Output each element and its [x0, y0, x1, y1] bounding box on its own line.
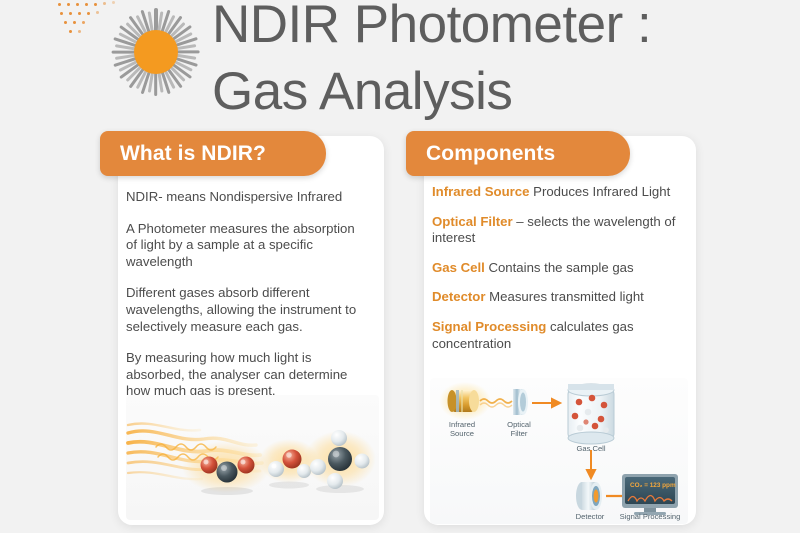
component-term: Detector [432, 289, 486, 304]
component-description: Produces Infrared Light [529, 184, 670, 199]
tab-components-label: Components [426, 142, 555, 166]
sun-core-circle [134, 30, 178, 74]
component-item-gas-cell: Gas Cell Contains the sample gas [432, 260, 690, 277]
component-term: Optical Filter [432, 214, 513, 229]
paragraph: NDIR- means Nondispersive Infrared [126, 189, 361, 206]
infrared-absorption-illustration [126, 395, 379, 520]
component-item-optical-filter: Optical Filter – selects the wavelength … [432, 214, 690, 247]
component-item-detector: Detector Measures transmitted light [432, 289, 690, 306]
infographic-canvas: NDIR Photometer : Gas Analysis NDIR- mea… [0, 0, 800, 533]
ndir-photometer-schematic: CO₂ = 123 ppm Infrared Source Optical Fi… [430, 378, 688, 524]
page-title-line-1: NDIR Photometer : [212, 0, 651, 54]
component-description: Measures transmitted light [486, 289, 644, 304]
component-description: Contains the sample gas [485, 260, 634, 275]
paragraph: By measuring how much light is absorbed,… [126, 350, 361, 400]
diagram-label-infrared-source: Infrared Source [438, 420, 486, 438]
page-title-line-2: Gas Analysis [212, 65, 772, 118]
component-item-infrared-source: Infrared Source Produces Infrared Light [432, 184, 690, 201]
component-term: Infrared Source [432, 184, 529, 199]
page-title: NDIR Photometer : Gas Analysis [212, 0, 772, 118]
component-term: Signal Processing [432, 319, 546, 334]
sun-starburst-icon [108, 4, 204, 100]
tab-components[interactable]: Components [406, 131, 630, 176]
component-term: Gas Cell [432, 260, 485, 275]
diagram-label-optical-filter: Optical Filter [496, 420, 542, 438]
tab-what-is-ndir[interactable]: What is NDIR? [100, 131, 326, 176]
diagram-label-signal-processing: Signal Processing [616, 512, 684, 521]
what-is-ndir-body: NDIR- means Nondispersive Infrared A Pho… [126, 189, 361, 415]
monitor-readout-text: CO₂ = 123 ppm [630, 482, 676, 489]
diagram-label-detector: Detector [564, 512, 616, 521]
diagram-label-gas-cell: Gas Cell [566, 444, 616, 453]
paragraph: Different gases absorb different wavelen… [126, 285, 361, 335]
component-item-signal-processing: Signal Processing calculates gas concent… [432, 319, 690, 352]
tab-what-is-ndir-label: What is NDIR? [120, 142, 266, 166]
components-list: Infrared Source Produces Infrared Light … [432, 184, 690, 365]
paragraph: A Photometer measures the absorption of … [126, 221, 361, 271]
